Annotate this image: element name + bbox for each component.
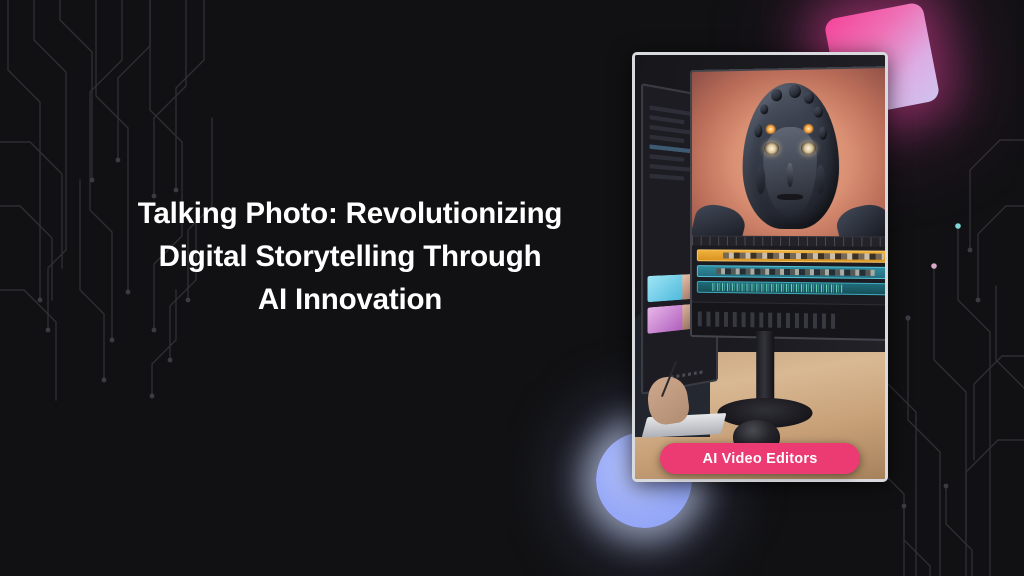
robot-head-node: [754, 124, 762, 137]
main-monitor: [690, 66, 885, 342]
photo-card: [632, 52, 888, 482]
clip-thumbnails: [716, 268, 874, 276]
workstation-photo: [635, 55, 885, 479]
editor-toolbar: [692, 301, 885, 339]
clip-thumbnails: [723, 253, 883, 260]
robot-head-node: [759, 104, 768, 114]
robot-head-node: [813, 106, 823, 118]
timeline-track-video-2: [696, 265, 885, 279]
robot-shoulder-left: [692, 200, 748, 236]
robot-ear-right: [815, 164, 825, 193]
video-preview-panel: [692, 68, 885, 236]
robot-eye-right: [801, 141, 815, 154]
robot-head-node: [788, 84, 800, 97]
robot-eye-left: [764, 141, 778, 154]
robot-temple-light-left: [765, 124, 775, 134]
timeline-track-video-1: [696, 250, 885, 264]
ai-video-editors-badge[interactable]: AI Video Editors: [660, 443, 860, 474]
robot-head-node: [803, 91, 813, 103]
audio-waveform: [712, 283, 843, 293]
robot-head-node: [771, 89, 782, 101]
monitor-stand-neck: [756, 331, 774, 407]
slide-canvas: Talking Photo: Revolutionizing Digital S…: [0, 0, 1024, 576]
toolbar-icon-row: [697, 311, 836, 328]
timeline-track-audio: [696, 281, 885, 295]
robot-mouth: [777, 194, 803, 200]
page-title: Talking Photo: Revolutionizing Digital S…: [100, 192, 600, 321]
android-robot-face: [742, 82, 838, 229]
robot-ear-left: [756, 165, 766, 194]
robot-head-node: [819, 126, 827, 139]
robot-shoulder-right: [833, 200, 885, 236]
robot-temple-light-right: [802, 124, 813, 134]
robot-nose: [786, 163, 793, 186]
